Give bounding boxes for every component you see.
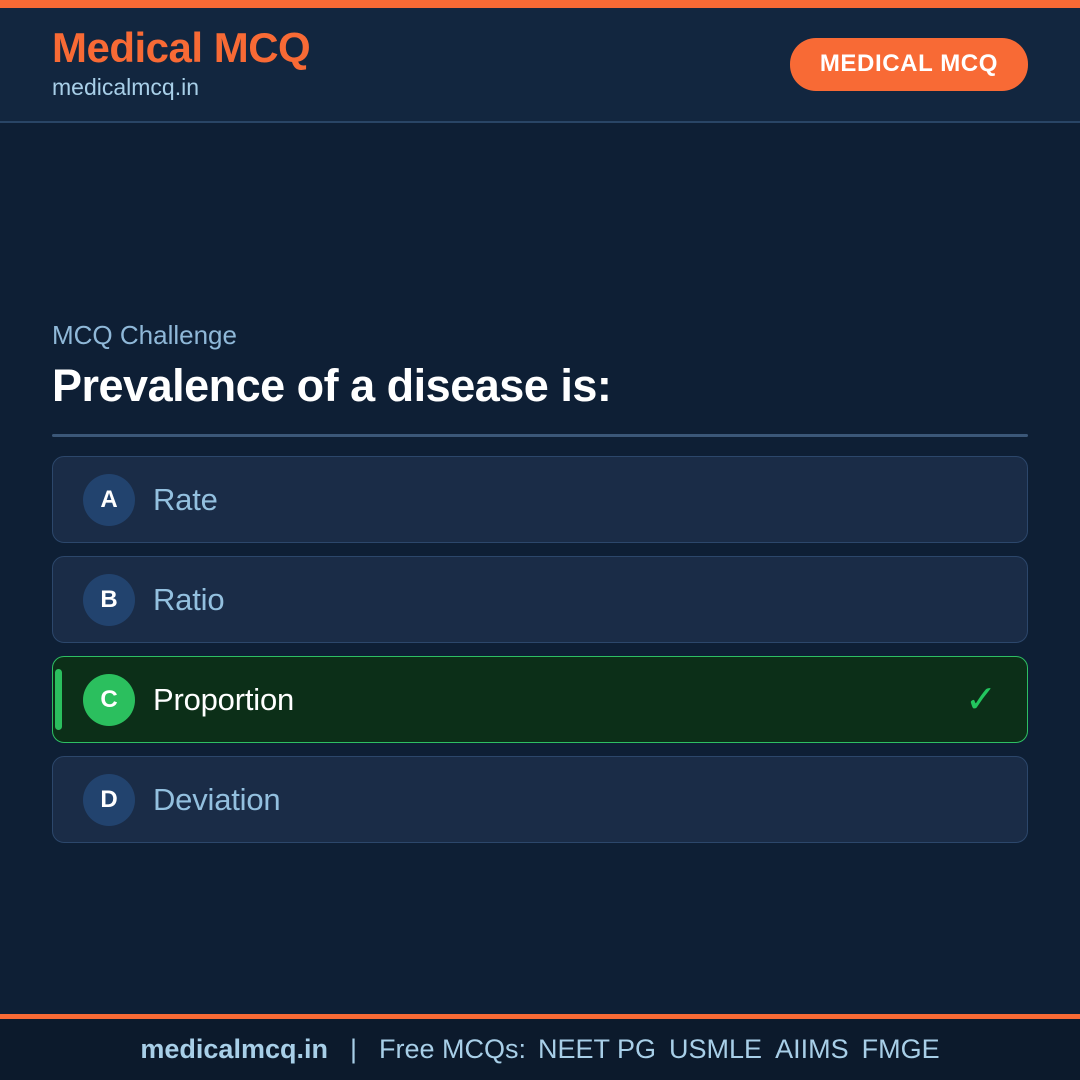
header-badge: MEDICAL MCQ: [790, 38, 1028, 91]
brand-title: Medical MCQ: [52, 25, 310, 70]
option-a[interactable]: A Rate ✓: [52, 456, 1028, 543]
option-label: Proportion: [153, 683, 294, 717]
brand-subtitle: medicalmcq.in: [52, 73, 310, 102]
option-label: Deviation: [153, 783, 280, 817]
footer-inner: medicalmcq.in | Free MCQs: NEET PG USMLE…: [140, 1034, 939, 1065]
option-label: Rate: [153, 483, 218, 517]
check-icon: ✓: [965, 681, 997, 719]
option-letter-badge: B: [83, 574, 135, 626]
brand-block: Medical MCQ medicalmcq.in: [52, 25, 310, 101]
correct-accent-bar: [55, 669, 62, 730]
footer-label: Free MCQs:: [379, 1034, 526, 1065]
option-letter-badge: D: [83, 774, 135, 826]
options-list: A Rate ✓ B Ratio ✓ C Proportion ✓: [52, 456, 1028, 843]
option-b[interactable]: B Ratio ✓: [52, 556, 1028, 643]
question-eyebrow: MCQ Challenge: [52, 320, 1028, 351]
question-title: Prevalence of a disease is:: [52, 359, 1028, 412]
option-d[interactable]: D Deviation ✓: [52, 756, 1028, 843]
footer-exam-neet-pg[interactable]: NEET PG: [538, 1034, 656, 1065]
mcq-card: Medical MCQ medicalmcq.in MEDICAL MCQ MC…: [0, 0, 1080, 1080]
option-label: Ratio: [153, 583, 224, 617]
question-block: MCQ Challenge Prevalence of a disease is…: [52, 320, 1028, 843]
top-accent-bar: [0, 0, 1080, 8]
footer: medicalmcq.in | Free MCQs: NEET PG USMLE…: [0, 1014, 1080, 1080]
footer-exam-fmge[interactable]: FMGE: [862, 1034, 940, 1065]
option-letter-badge: C: [83, 674, 135, 726]
footer-exam-usmle[interactable]: USMLE: [669, 1034, 762, 1065]
question-divider: [52, 434, 1028, 437]
footer-separator: |: [350, 1034, 357, 1065]
option-letter-badge: A: [83, 474, 135, 526]
option-c[interactable]: C Proportion ✓: [52, 656, 1028, 743]
footer-site[interactable]: medicalmcq.in: [140, 1034, 328, 1065]
main-content: MCQ Challenge Prevalence of a disease is…: [0, 123, 1080, 1014]
footer-exam-aiims[interactable]: AIIMS: [775, 1034, 849, 1065]
header: Medical MCQ medicalmcq.in MEDICAL MCQ: [0, 8, 1080, 123]
